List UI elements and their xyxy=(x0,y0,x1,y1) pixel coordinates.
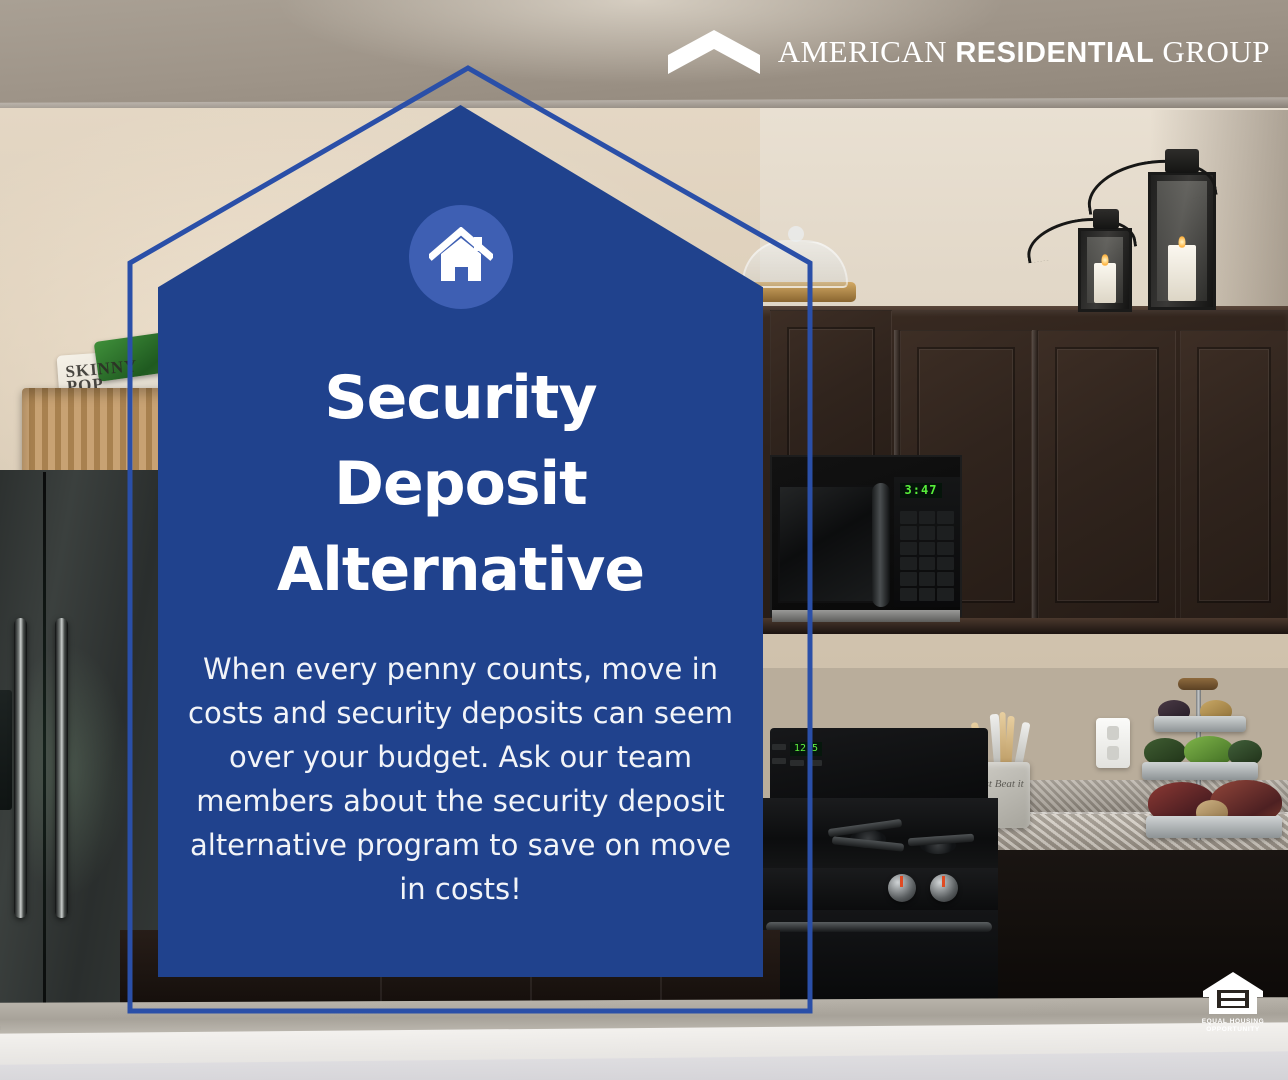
oven-handle xyxy=(766,922,992,932)
candle xyxy=(1094,263,1116,303)
range-control-bar xyxy=(760,868,998,910)
equal-housing-house-icon xyxy=(1202,971,1264,1015)
microwave-keypad xyxy=(900,511,954,601)
wooden-utensil xyxy=(1000,712,1007,768)
cabinet-door xyxy=(1180,330,1288,620)
home-icon-badge xyxy=(409,205,513,309)
cake-dome-knob xyxy=(788,226,804,242)
poster-canvas: SKINNY POP xyxy=(0,0,1288,1080)
brand-name-part2: RESIDENTIAL xyxy=(955,37,1154,69)
flame-icon xyxy=(1179,236,1186,248)
lantern-cap xyxy=(1165,149,1199,173)
range-button xyxy=(790,760,804,766)
promo-card: Security Deposit Alternative When every … xyxy=(158,105,763,977)
brand-name: AMERICAN RESIDENTIAL GROUP xyxy=(778,34,1270,70)
range-button xyxy=(772,758,786,764)
tiered-tray-middle xyxy=(1142,762,1258,780)
tiered-tray-bottom xyxy=(1146,816,1282,838)
microwave-handle xyxy=(872,483,890,607)
refrigerator-door-seam xyxy=(43,472,46,1028)
cabinet-stile xyxy=(1032,330,1038,620)
headline-line-2: Deposit xyxy=(201,441,721,527)
tiered-tray-top xyxy=(1154,716,1246,732)
headline-line-1: Security xyxy=(201,355,721,441)
brand-name-part1: AMERICAN xyxy=(778,34,956,69)
lantern-large xyxy=(1148,172,1216,310)
brand-name-part3: GROUP xyxy=(1154,34,1270,69)
refrigerator-dispenser xyxy=(0,690,12,810)
brand-logo: AMERICAN RESIDENTIAL GROUP xyxy=(668,28,1270,76)
home-icon xyxy=(429,227,493,287)
range-clock-display: 12:5 xyxy=(790,742,822,756)
range-button xyxy=(808,760,822,766)
range-knob xyxy=(930,874,958,902)
card-headline: Security Deposit Alternative xyxy=(201,355,721,613)
wall-outlet xyxy=(1096,718,1130,768)
microwave-clock-display: 3:47 xyxy=(900,483,942,498)
wicker-basket xyxy=(22,388,172,478)
microwave-window xyxy=(778,485,882,603)
microwave-control-panel: 3:47 xyxy=(894,477,960,607)
microwave: 3:47 xyxy=(770,455,962,617)
chevron-roof-icon xyxy=(668,28,760,76)
flame-icon xyxy=(1102,254,1109,266)
equal-housing-opportunity-label: EQUAL HOUSING OPPORTUNITY xyxy=(1202,1018,1265,1034)
card-body-text: When every penny counts, move in costs a… xyxy=(188,647,733,911)
tiered-tray-handle xyxy=(1178,678,1218,690)
candle xyxy=(1168,245,1196,301)
range-knob xyxy=(888,874,916,902)
range-button xyxy=(772,744,786,750)
lantern-small xyxy=(1078,228,1132,312)
microwave-vent xyxy=(772,610,960,622)
headline-line-3: Alternative xyxy=(201,527,721,613)
cabinet-door xyxy=(1038,330,1176,620)
equal-housing-opportunity-logo: EQUAL HOUSING OPPORTUNITY xyxy=(1196,971,1270,1034)
refrigerator-handle-right xyxy=(55,618,68,918)
refrigerator-handle-left xyxy=(14,618,27,918)
